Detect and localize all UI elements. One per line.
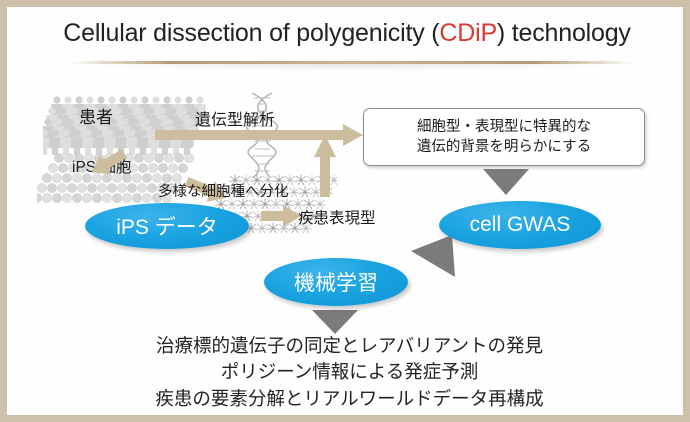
conclusion-block: 治療標的遺伝子の同定とレアバリアントの発見 ポリジーン情報による発症予測 疾患の… [22, 333, 677, 412]
title-divider-shadow [73, 64, 631, 71]
pill-ips-data-label: iPS データ [116, 211, 218, 241]
pill-cell-gwas-label: cell GWAS [470, 213, 571, 237]
conclusion-line-1: 治療標的遺伝子の同定とレアバリアントの発見 [22, 333, 677, 359]
arrow-patients-to-ips [85, 147, 131, 179]
pill-machine-learning[interactable]: 機械学習 [264, 258, 408, 306]
label-patients: 患者 [79, 103, 113, 128]
result-box-line1: 細胞型・表現型に特異的な [417, 117, 591, 137]
pill-ips-data[interactable]: iPS データ [85, 203, 249, 249]
pill-cell-gwas[interactable]: cell GWAS [439, 201, 601, 249]
chevron-ml-to-conclusion [312, 310, 358, 334]
arrow-to-disease-phenotype [261, 205, 301, 227]
page-title: Cellular dissection of polygenicity (CDi… [17, 19, 677, 48]
label-genotyping: 遺伝型解析 [195, 106, 275, 130]
slide-frame: Cellular dissection of polygenicity (CDi… [0, 0, 690, 422]
title-text-after: ) technology [497, 19, 631, 47]
result-box: 細胞型・表現型に特異的な 遺伝的背景を明らかにする [363, 108, 645, 166]
conclusion-line-2: ポリジーン情報による発症予測 [22, 359, 677, 385]
result-box-line2: 遺伝的背景を明らかにする [417, 137, 591, 157]
label-disease-phenotype: 疾患表現型 [298, 206, 376, 228]
arrow-phenotype-up [313, 135, 337, 197]
label-differentiation: 多様な細胞種へ分化 [158, 180, 289, 201]
pill-machine-learning-label: 機械学習 [294, 267, 378, 297]
conclusion-line-3: 疾患の要素分解とリアルワールドデータ再構成 [22, 386, 677, 412]
slide-canvas: Cellular dissection of polygenicity (CDi… [7, 7, 683, 415]
title-accent-cdip: CDiP [439, 19, 497, 47]
title-text-before: Cellular dissection of polygenicity ( [63, 19, 439, 47]
chevron-box-to-cell-gwas [483, 169, 529, 195]
